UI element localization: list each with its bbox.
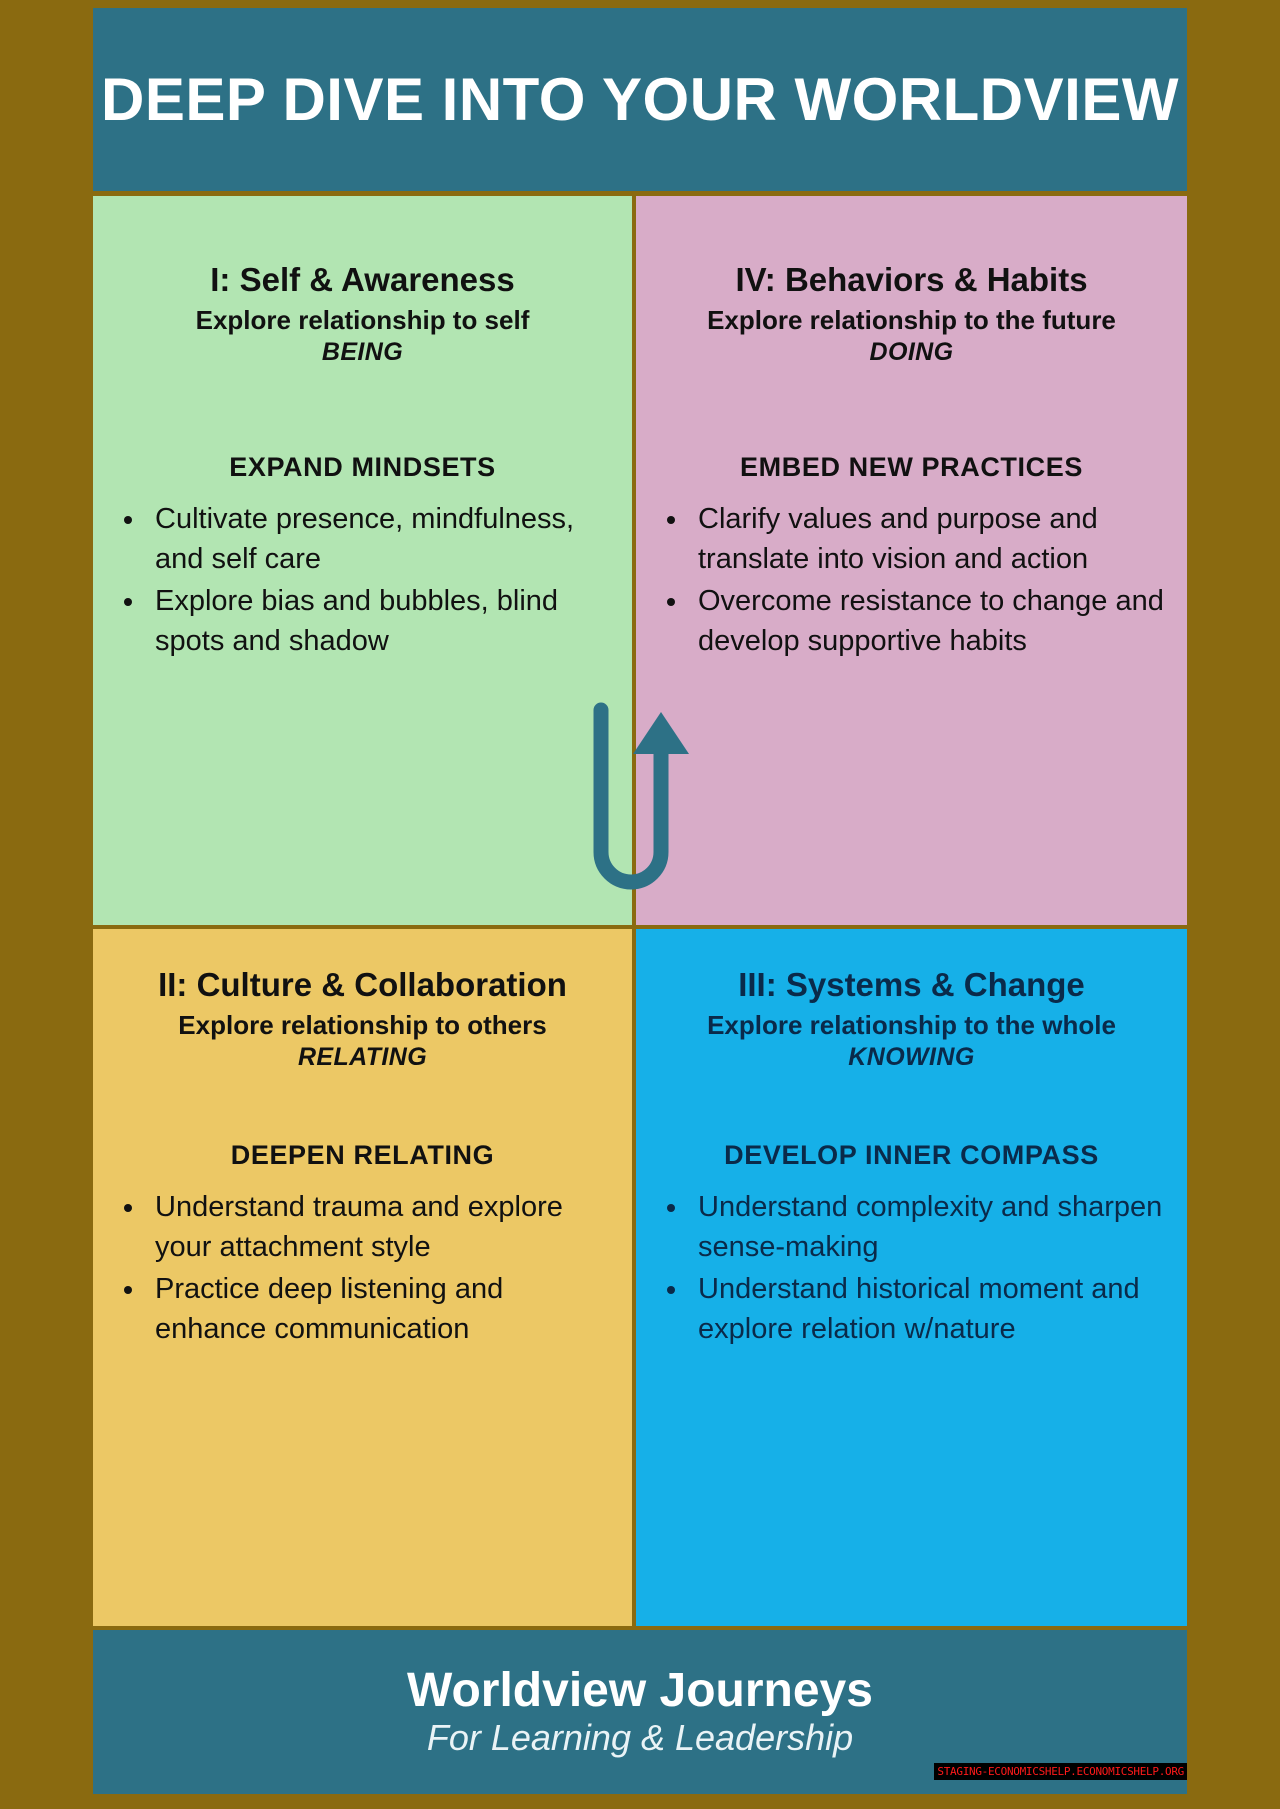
list-item: Clarify values and purpose and translate… <box>690 499 1169 579</box>
quadrant-subtitle: Explore relationship to others <box>111 1010 614 1041</box>
quadrant-bullet-list: Cultivate presence, mindfulness, and sel… <box>111 499 614 661</box>
quadrant-verb: BEING <box>111 338 614 367</box>
quadrant-verb: DOING <box>654 338 1169 367</box>
source-watermark: STAGING-ECONOMICSHELP.ECONOMICSHELP.ORG <box>934 1763 1187 1780</box>
list-item: Cultivate presence, mindfulness, and sel… <box>147 499 614 579</box>
quadrant-title: III: Systems & Change <box>654 967 1169 1004</box>
quadrant-bullet-list: Understand trauma and explore your attac… <box>111 1187 614 1349</box>
quadrant-action-heading: DEVELOP INNER COMPASS <box>654 1140 1169 1171</box>
quadrant-subtitle: Explore relationship to the whole <box>654 1010 1169 1041</box>
brand-tagline: For Learning & Leadership <box>427 1718 853 1758</box>
list-item: Practice deep listening and enhance comm… <box>147 1269 614 1349</box>
poster-title: DEEP DIVE INTO YOUR WORLDVIEW <box>101 70 1179 130</box>
quadrant-title: I: Self & Awareness <box>111 262 614 299</box>
list-item: Understand trauma and explore your attac… <box>147 1187 614 1267</box>
quadrant-grid: I: Self & Awareness Explore relationship… <box>93 196 1187 1626</box>
list-item: Understand complexity and sharpen sense-… <box>690 1187 1169 1267</box>
quadrant-action-heading: EMBED NEW PRACTICES <box>654 452 1169 483</box>
quadrant-systems-and-change: III: Systems & Change Explore relationsh… <box>636 929 1187 1626</box>
quadrant-title: II: Culture & Collaboration <box>111 967 614 1004</box>
list-item: Explore bias and bubbles, blind spots an… <box>147 581 614 661</box>
poster-header: DEEP DIVE INTO YOUR WORLDVIEW <box>93 8 1187 191</box>
list-item: Understand historical moment and explore… <box>690 1269 1169 1349</box>
quadrant-self-and-awareness: I: Self & Awareness Explore relationship… <box>93 196 632 925</box>
quadrant-culture-and-collaboration: II: Culture & Collaboration Explore rela… <box>93 929 632 1626</box>
quadrant-action-heading: DEEPEN RELATING <box>111 1140 614 1171</box>
list-item: Overcome resistance to change and develo… <box>690 581 1169 661</box>
quadrant-subtitle: Explore relationship to the future <box>654 305 1169 336</box>
quadrant-bullet-list: Understand complexity and sharpen sense-… <box>654 1187 1169 1349</box>
quadrant-verb: RELATING <box>111 1043 614 1072</box>
quadrant-subtitle: Explore relationship to self <box>111 305 614 336</box>
poster-footer: Worldview Journeys For Learning & Leader… <box>93 1630 1187 1794</box>
quadrant-bullet-list: Clarify values and purpose and translate… <box>654 499 1169 661</box>
brand-name: Worldview Journeys <box>407 1666 873 1716</box>
quadrant-behaviors-and-habits: IV: Behaviors & Habits Explore relations… <box>636 196 1187 925</box>
quadrant-verb: KNOWING <box>654 1043 1169 1072</box>
infographic-poster: DEEP DIVE INTO YOUR WORLDVIEW I: Self & … <box>85 0 1195 1809</box>
quadrant-action-heading: EXPAND MINDSETS <box>111 452 614 483</box>
quadrant-title: IV: Behaviors & Habits <box>654 262 1169 299</box>
